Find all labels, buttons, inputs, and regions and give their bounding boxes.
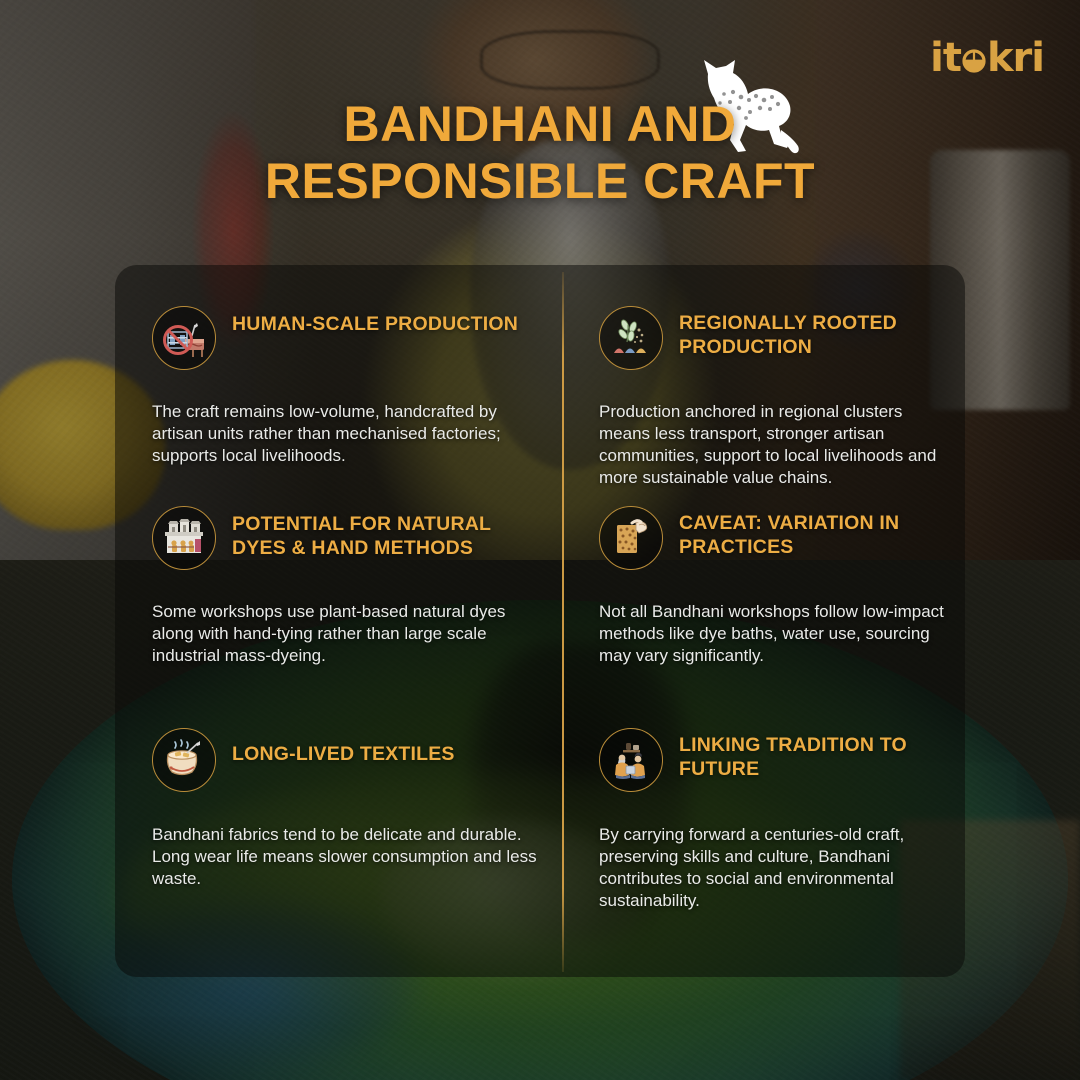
- brand-logo-text-part2: kri: [987, 35, 1044, 81]
- feature-card-human-scale-production[interactable]: HUMAN-SCALE PRODUCTION The craft remains…: [115, 265, 562, 465]
- infographic-canvas: itkri BANDHANI AND RESPONSIBLE CRAFT: [0, 0, 1080, 1080]
- brand-logo-itokri[interactable]: itkri: [930, 38, 1044, 78]
- card-body: Some workshops use plant-based natural d…: [152, 601, 548, 667]
- steaming-dye-pot-icon: [152, 728, 216, 792]
- card-header: LONG-LIVED TEXTILES: [152, 675, 548, 792]
- card-title: POTENTIAL FOR NATURAL DYES & HAND METHOD…: [232, 506, 548, 561]
- card-header: REGIONALLY ROOTED PRODUCTION: [599, 265, 947, 370]
- card-header: LINKING TRADITION TO FUTURE: [599, 675, 947, 792]
- card-body: The craft remains low-volume, handcrafte…: [152, 401, 548, 467]
- card-title: HUMAN-SCALE PRODUCTION: [232, 306, 518, 337]
- feature-card-natural-dyes-hand-methods[interactable]: POTENTIAL FOR NATURAL DYES & HAND METHOD…: [115, 465, 562, 675]
- feature-card-regionally-rooted-production[interactable]: REGIONALLY ROOTED PRODUCTION Production …: [562, 265, 965, 465]
- card-body: Bandhani fabrics tend to be delicate and…: [152, 824, 548, 890]
- card-title: CAVEAT: VARIATION IN PRACTICES: [679, 506, 947, 560]
- card-body: Not all Bandhani workshops follow low-im…: [599, 601, 947, 667]
- artisan-workshop-building-icon: [152, 506, 216, 570]
- card-title: LONG-LIVED TEXTILES: [232, 728, 455, 767]
- card-title: LINKING TRADITION TO FUTURE: [679, 728, 947, 782]
- two-artisans-working-icon: [599, 728, 663, 792]
- card-title: REGIONALLY ROOTED PRODUCTION: [679, 306, 947, 360]
- hand-holding-patterned-fabric-icon: [599, 506, 663, 570]
- feature-card-long-lived-textiles[interactable]: LONG-LIVED TEXTILES Bandhani fabrics ten…: [115, 675, 562, 977]
- feature-card-caveat-variation-in-practices[interactable]: CAVEAT: VARIATION IN PRACTICES Not all B…: [562, 465, 965, 675]
- page-title-line-1: BANDHANI AND: [343, 96, 736, 152]
- page-title: BANDHANI AND RESPONSIBLE CRAFT: [0, 96, 1080, 210]
- card-header: POTENTIAL FOR NATURAL DYES & HAND METHOD…: [152, 465, 548, 570]
- card-header: CAVEAT: VARIATION IN PRACTICES: [599, 465, 947, 570]
- basket-icon: [961, 48, 987, 74]
- feature-grid: HUMAN-SCALE PRODUCTION The craft remains…: [115, 265, 965, 977]
- card-body: By carrying forward a centuries-old craf…: [599, 824, 947, 912]
- feature-card-linking-tradition-to-future[interactable]: LINKING TRADITION TO FUTURE By carrying …: [562, 675, 965, 977]
- card-header: HUMAN-SCALE PRODUCTION: [152, 265, 548, 370]
- header: itkri BANDHANI AND RESPONSIBLE CRAFT: [0, 0, 1080, 265]
- leaves-and-natural-pigments-icon: [599, 306, 663, 370]
- page-title-line-2: RESPONSIBLE CRAFT: [0, 153, 1080, 210]
- brand-logo-text-part1: it: [930, 35, 961, 81]
- no-factory-machine-icon: [152, 306, 216, 370]
